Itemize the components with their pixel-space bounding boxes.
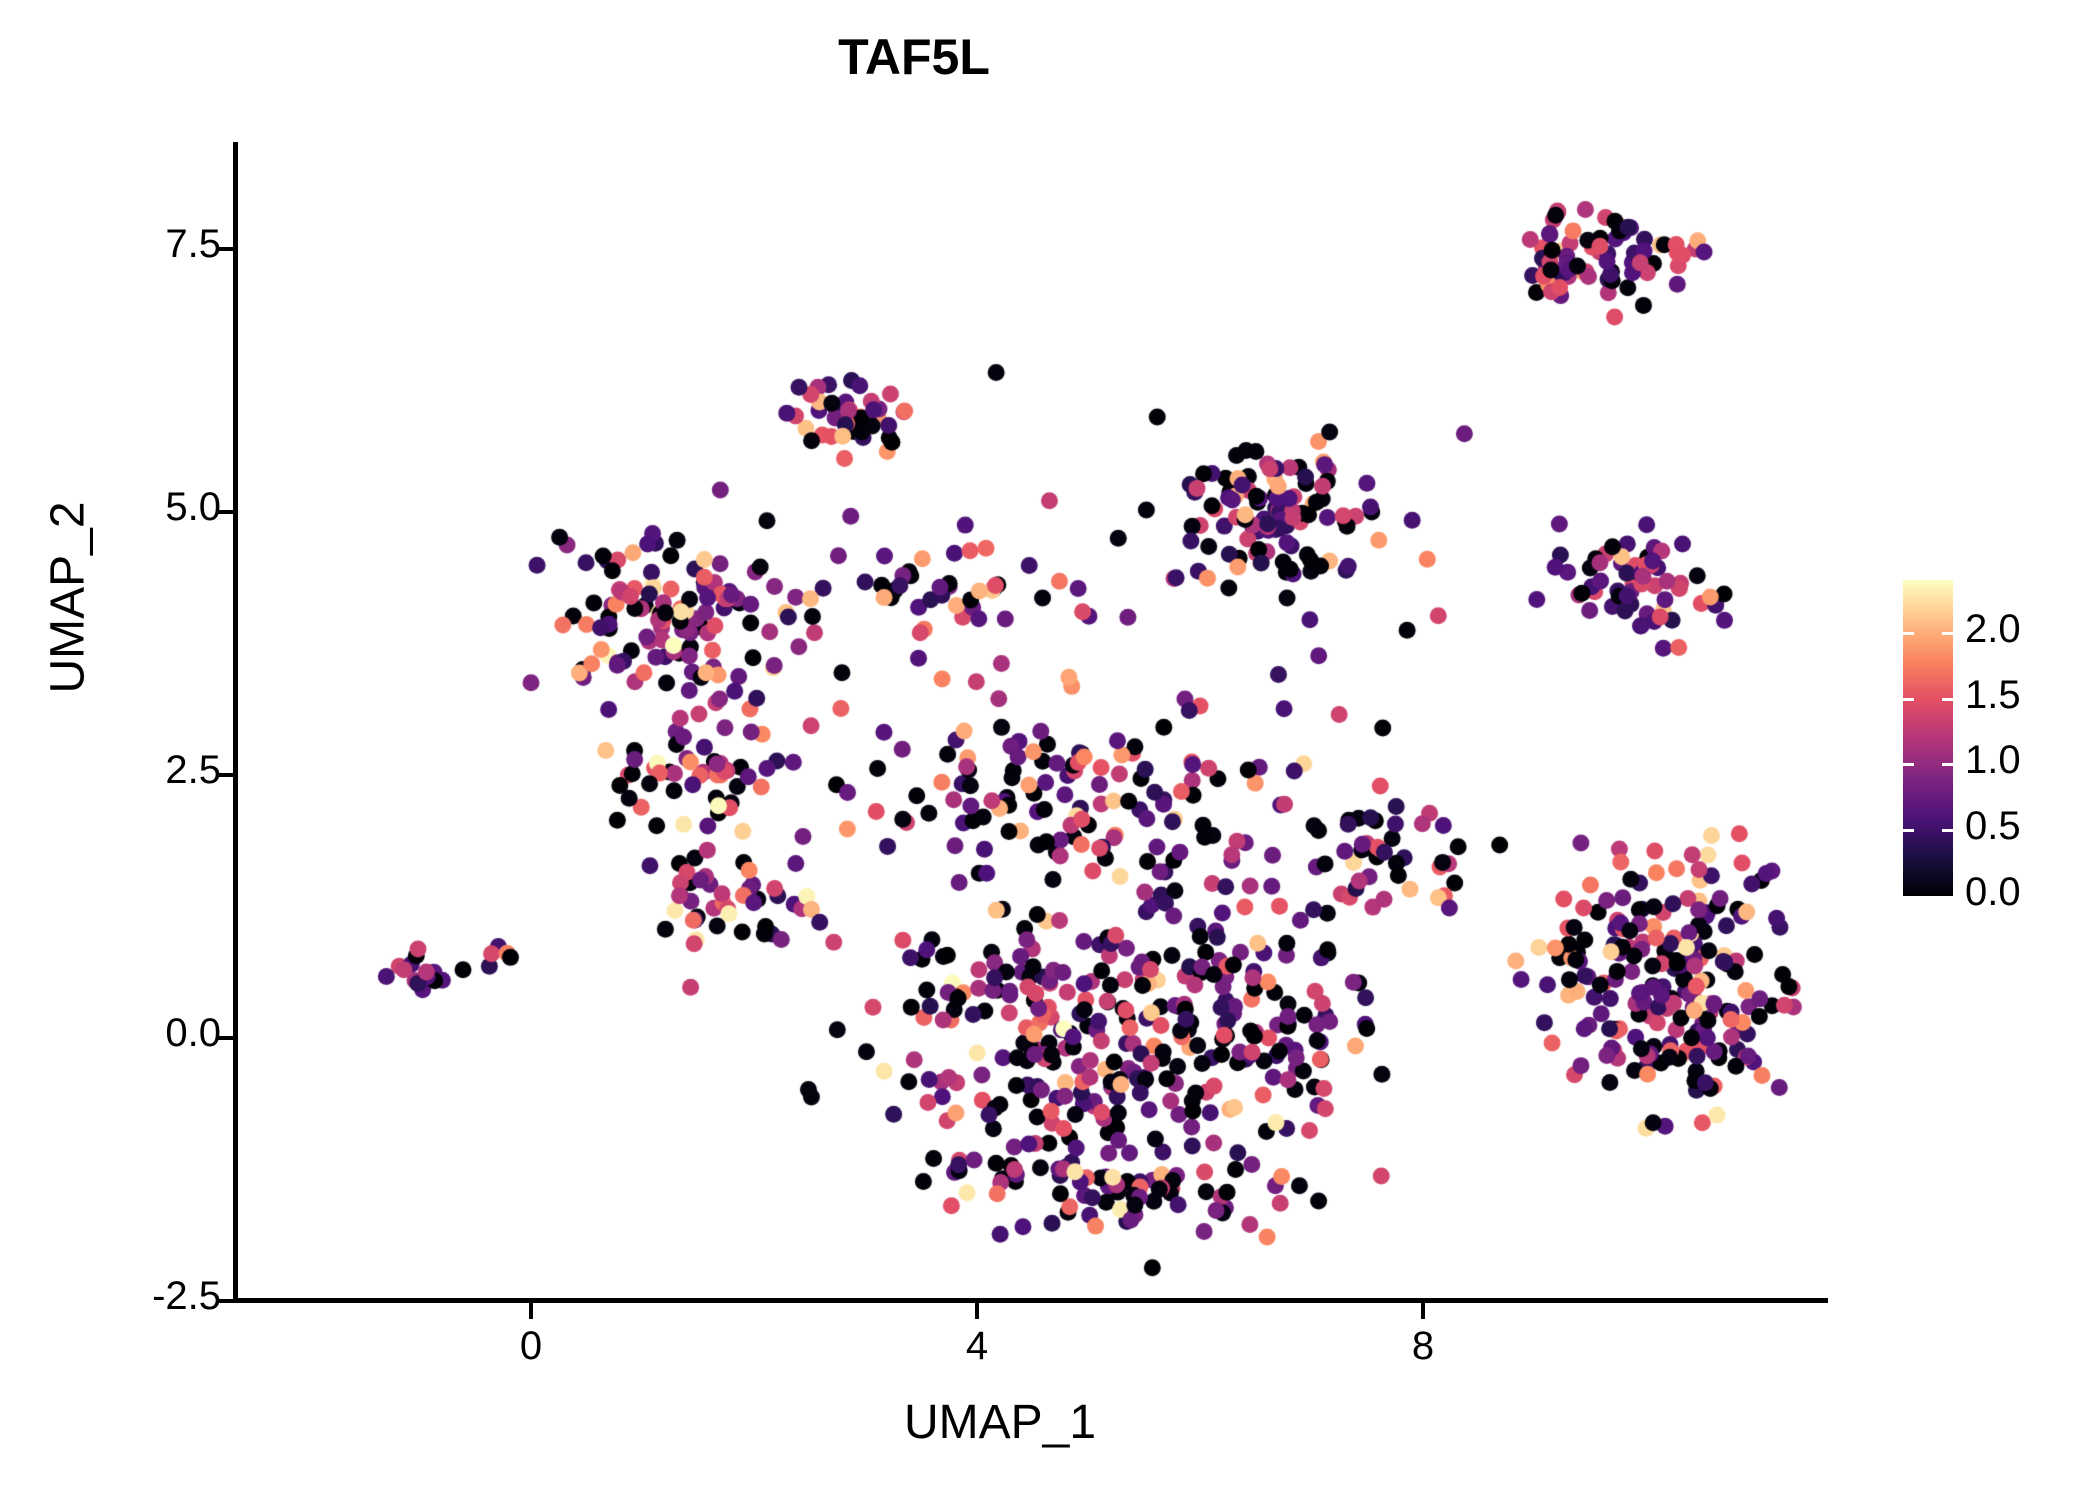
- y-axis-title: UMAP_2: [41, 398, 96, 798]
- colorbar-legend: 2.01.51.00.50.0: [1903, 580, 2083, 896]
- x-tick-mark: [1421, 1303, 1425, 1319]
- colorbar-tick-mark: [1942, 763, 1953, 766]
- chart-root: TAF5L 7.55.02.50.0-2.5 048 UMAP_2 UMAP_1…: [0, 0, 2100, 1500]
- x-tick-mark: [529, 1303, 533, 1319]
- chart-title: TAF5L: [0, 28, 1828, 86]
- colorbar-tick-label: 1.0: [1965, 738, 2021, 783]
- colorbar-tick-mark: [1903, 632, 1914, 635]
- y-tick-label: 7.5: [165, 222, 221, 267]
- colorbar-tick-label: 2.0: [1965, 607, 2021, 652]
- x-tick-mark: [975, 1303, 979, 1319]
- colorbar-tick-label: 0.0: [1965, 870, 2021, 915]
- x-tick-label: 8: [1363, 1324, 1483, 1369]
- colorbar-tick-label: 1.5: [1965, 673, 2021, 718]
- y-tick-label: 2.5: [165, 748, 221, 793]
- plot-panel: [235, 142, 1828, 1300]
- y-tick-label: -2.5: [152, 1274, 221, 1319]
- colorbar-tick-mark: [1942, 632, 1953, 635]
- x-tick-label: 0: [471, 1324, 591, 1369]
- colorbar-tick-mark: [1903, 698, 1914, 701]
- colorbar-tick-mark: [1903, 763, 1914, 766]
- colorbar-gradient: [1903, 580, 1953, 896]
- colorbar-tick-mark: [1903, 829, 1914, 832]
- colorbar-tick-mark: [1942, 829, 1953, 832]
- y-tick-label: 0.0: [165, 1011, 221, 1056]
- x-axis-title: UMAP_1: [500, 1395, 1500, 1450]
- colorbar-tick-label: 0.5: [1965, 804, 2021, 849]
- y-tick-label: 5.0: [165, 485, 221, 530]
- scatter-points-canvas: [235, 142, 1828, 1300]
- colorbar-tick-mark: [1942, 698, 1953, 701]
- x-axis-line: [233, 1298, 1828, 1303]
- x-tick-label: 4: [917, 1324, 1037, 1369]
- y-axis-line: [233, 142, 238, 1302]
